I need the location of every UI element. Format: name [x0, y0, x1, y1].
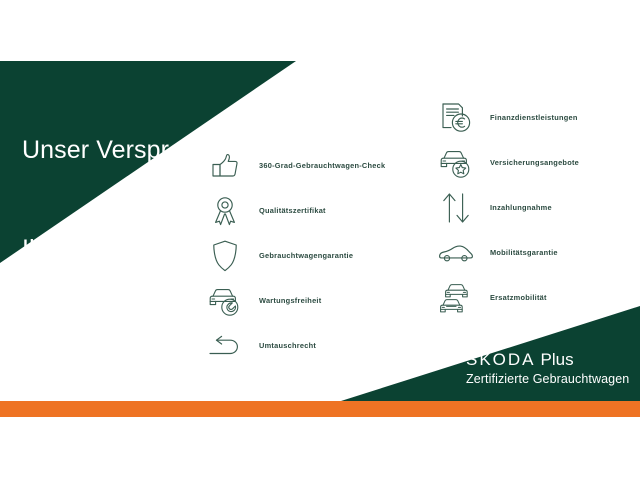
award-rosette-icon [203, 191, 247, 231]
feature-label: Mobilitätsgarantie [478, 248, 558, 257]
skoda-wordmark: SKODA [466, 350, 536, 369]
feature-label: Gebrauchtwagengarantie [247, 251, 353, 260]
brand-logo: SKODAPlus Zertifizierte Gebrauchtwagen [466, 350, 629, 388]
feature-label: Versicherungsangebote [478, 158, 579, 167]
feature-label: Umtauschrecht [247, 341, 316, 350]
car-star-shield-icon [434, 143, 478, 183]
feature-label: Inzahlungnahme [478, 203, 552, 212]
feature-item: Inzahlungnahme [434, 185, 579, 230]
feature-item: Versicherungsangebote [434, 140, 579, 185]
feature-label: Qualitätszertifikat [247, 206, 326, 215]
feature-item: Finanzdienstleistungen [434, 95, 579, 140]
feature-item: Umtauschrecht [203, 323, 385, 368]
two-cars-icon [434, 278, 478, 318]
feature-label: Wartungsfreiheit [247, 296, 321, 305]
thumbs-up-icon [203, 146, 247, 186]
feature-list-right: Finanzdienstleistungen Versicherungsange… [434, 95, 579, 320]
feature-item: Wartungsfreiheit [203, 278, 385, 323]
document-euro-icon [434, 98, 478, 138]
feature-item: Gebrauchtwagengarantie [203, 233, 385, 278]
shield-icon [203, 236, 247, 276]
brand-tagline: Zertifizierte Gebrauchtwagen [466, 371, 629, 388]
plus-suffix: Plus [541, 350, 574, 369]
feature-label: 360-Grad-Gebrauchtwagen-Check [247, 161, 385, 170]
up-down-arrows-icon [434, 188, 478, 228]
feature-item: Ersatzmobilität [434, 275, 579, 320]
feature-label: Ersatzmobilität [478, 293, 547, 302]
feature-item: Mobilitätsgarantie [434, 230, 579, 275]
feature-label: Finanzdienstleistungen [478, 113, 578, 122]
orange-bar [0, 401, 640, 417]
promo-banner: Unser Versprechen. Ihr Plus. 360-Grad-Ge… [0, 0, 640, 480]
brand-logo-primary: SKODAPlus [466, 350, 629, 370]
feature-list-left: 360-Grad-Gebrauchtwagen-Check Qualitätsz… [203, 143, 385, 368]
return-arrow-icon [203, 326, 247, 366]
feature-item: 360-Grad-Gebrauchtwagen-Check [203, 143, 385, 188]
car-wrench-icon [203, 281, 247, 321]
feature-item: Qualitätszertifikat [203, 188, 385, 233]
car-silhouette-icon [434, 233, 478, 273]
